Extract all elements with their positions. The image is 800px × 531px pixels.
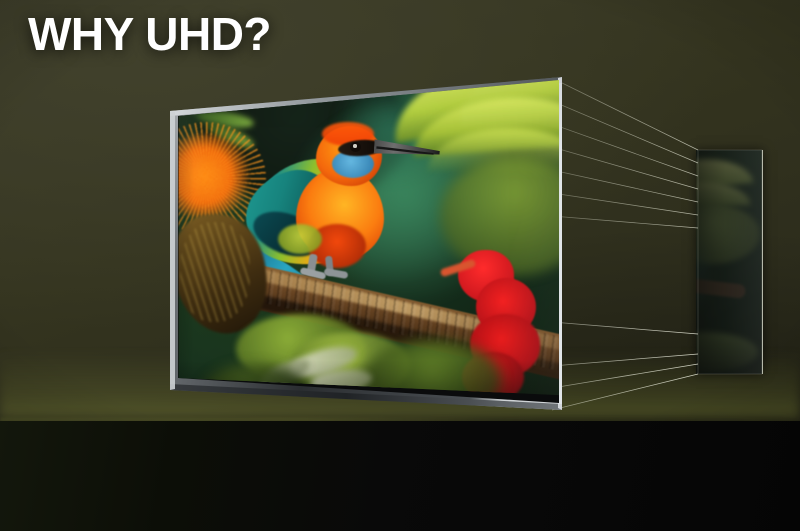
page-title: WHY UHD? bbox=[28, 11, 271, 57]
tv-screen bbox=[140, 64, 568, 420]
bird-eye-glint bbox=[353, 144, 357, 148]
promo-banner: webOS Re:New Program α 7 4K AI Processor… bbox=[0, 0, 800, 531]
feature-band: webOS Re:New Program α 7 4K AI Processor… bbox=[0, 421, 800, 531]
depth-box bbox=[548, 66, 772, 416]
bird-flank bbox=[278, 224, 322, 254]
tv-scene bbox=[140, 64, 568, 420]
television bbox=[140, 64, 568, 420]
wireframe-mesh bbox=[548, 66, 772, 416]
